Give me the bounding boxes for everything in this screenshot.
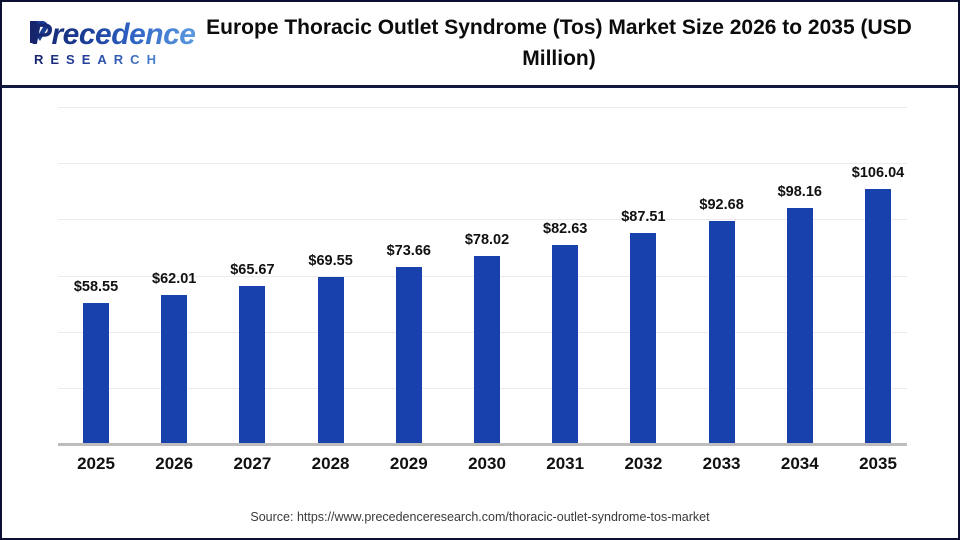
gridline bbox=[58, 219, 907, 220]
bar bbox=[865, 189, 891, 444]
bar-value-label: $106.04 bbox=[852, 165, 904, 181]
bar-value-label: $87.51 bbox=[621, 209, 665, 225]
logo-wordmark: Precedence bbox=[32, 18, 195, 52]
chart-page: Precedence RESEARCH Europe Thoracic Outl… bbox=[0, 0, 960, 540]
bar-value-label: $69.55 bbox=[308, 253, 352, 269]
bar-value-label: $98.16 bbox=[778, 184, 822, 200]
x-axis-label: 2026 bbox=[155, 454, 193, 474]
x-axis-line bbox=[58, 443, 907, 446]
x-axis-label: 2028 bbox=[312, 454, 350, 474]
bar bbox=[787, 208, 813, 444]
bar-value-label: $82.63 bbox=[543, 221, 587, 237]
bar-value-label: $65.67 bbox=[230, 262, 274, 278]
bar-value-label: $92.68 bbox=[699, 197, 743, 213]
bar bbox=[709, 221, 735, 444]
bar-value-label: $73.66 bbox=[387, 243, 431, 259]
bar bbox=[161, 295, 187, 444]
bar bbox=[83, 303, 109, 444]
precedence-research-logo: Precedence RESEARCH bbox=[16, 16, 176, 74]
x-axis-label: 2029 bbox=[390, 454, 428, 474]
source-caption: Source: https://www.precedenceresearch.c… bbox=[2, 510, 958, 524]
bar-value-label: $78.02 bbox=[465, 232, 509, 248]
bar bbox=[396, 267, 422, 444]
x-axis-label: 2027 bbox=[233, 454, 271, 474]
x-axis-label: 2031 bbox=[546, 454, 584, 474]
x-axis-label: 2030 bbox=[468, 454, 506, 474]
bar bbox=[239, 286, 265, 444]
bar bbox=[318, 277, 344, 444]
bar-value-label: $62.01 bbox=[152, 271, 196, 287]
bar bbox=[552, 245, 578, 444]
page-title: Europe Thoracic Outlet Syndrome (Tos) Ma… bbox=[194, 12, 924, 74]
x-axis-label: 2033 bbox=[703, 454, 741, 474]
bar-value-label: $58.55 bbox=[74, 279, 118, 295]
x-axis-label: 2034 bbox=[781, 454, 819, 474]
x-axis-label: 2035 bbox=[859, 454, 897, 474]
x-axis-label: 2032 bbox=[624, 454, 662, 474]
bar bbox=[474, 256, 500, 444]
page-header: Precedence RESEARCH Europe Thoracic Outl… bbox=[2, 2, 958, 88]
bar bbox=[630, 233, 656, 444]
gridline bbox=[58, 163, 907, 164]
logo-subtext: RESEARCH bbox=[34, 52, 163, 67]
x-axis-label: 2025 bbox=[77, 454, 115, 474]
gridline bbox=[58, 107, 907, 108]
